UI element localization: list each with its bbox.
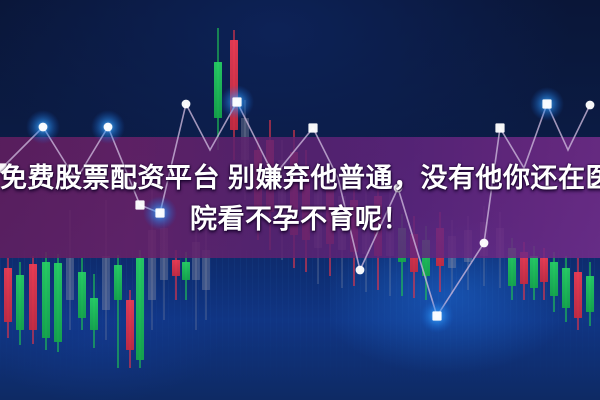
- headline-line-1: 免费股票配资平台 别嫌弃他普通，没有他你还在医: [0, 158, 600, 199]
- headline-line-2: 院看不孕不育呢！: [0, 199, 600, 240]
- stock-banner: 免费股票配资平台 别嫌弃他普通，没有他你还在医 院看不孕不育呢！: [0, 0, 600, 400]
- headline-text: 免费股票配资平台 别嫌弃他普通，没有他你还在医 院看不孕不育呢！: [0, 158, 600, 240]
